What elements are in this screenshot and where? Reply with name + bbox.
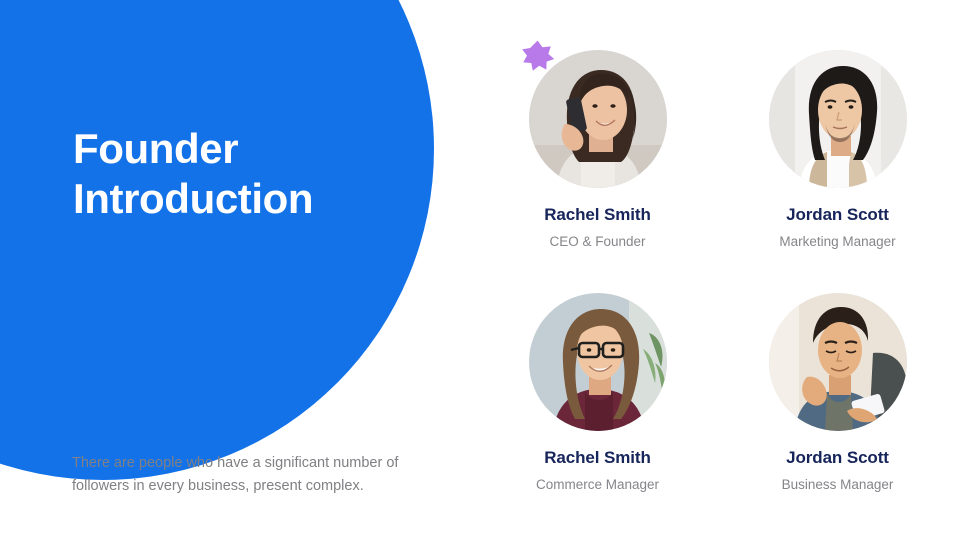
blue-circle-decoration [0,0,434,480]
team-member-card[interactable]: Jordan Scott Business Manager [750,293,925,494]
member-role: Commerce Manager [510,476,685,494]
member-name: Rachel Smith [510,447,685,469]
avatar-wrapper [529,293,667,431]
avatar-wrapper [769,293,907,431]
avatar [769,293,907,431]
avatar-wrapper [529,50,667,188]
title-line-1: Founder [73,124,413,174]
team-grid: Rachel Smith CEO & Founder [510,50,930,494]
body-paragraph: There are people who have a significant … [72,452,444,498]
avatar-wrapper [769,50,907,188]
member-role: Marketing Manager [750,233,925,251]
avatar [529,293,667,431]
member-name: Jordan Scott [750,447,925,469]
member-name: Rachel Smith [510,204,685,226]
title-line-2: Introduction [73,174,413,224]
purple-starburst-icon [519,39,555,73]
team-member-card[interactable]: Rachel Smith Commerce Manager [510,293,685,494]
member-name: Jordan Scott [750,204,925,226]
member-role: Business Manager [750,476,925,494]
team-member-card[interactable]: Jordan Scott Marketing Manager [750,50,925,251]
page-title: Founder Introduction [73,124,413,224]
team-member-card[interactable]: Rachel Smith CEO & Founder [510,50,685,251]
slide-canvas: Founder Introduction There are people wh… [0,0,980,551]
member-role: CEO & Founder [510,233,685,251]
avatar [769,50,907,188]
